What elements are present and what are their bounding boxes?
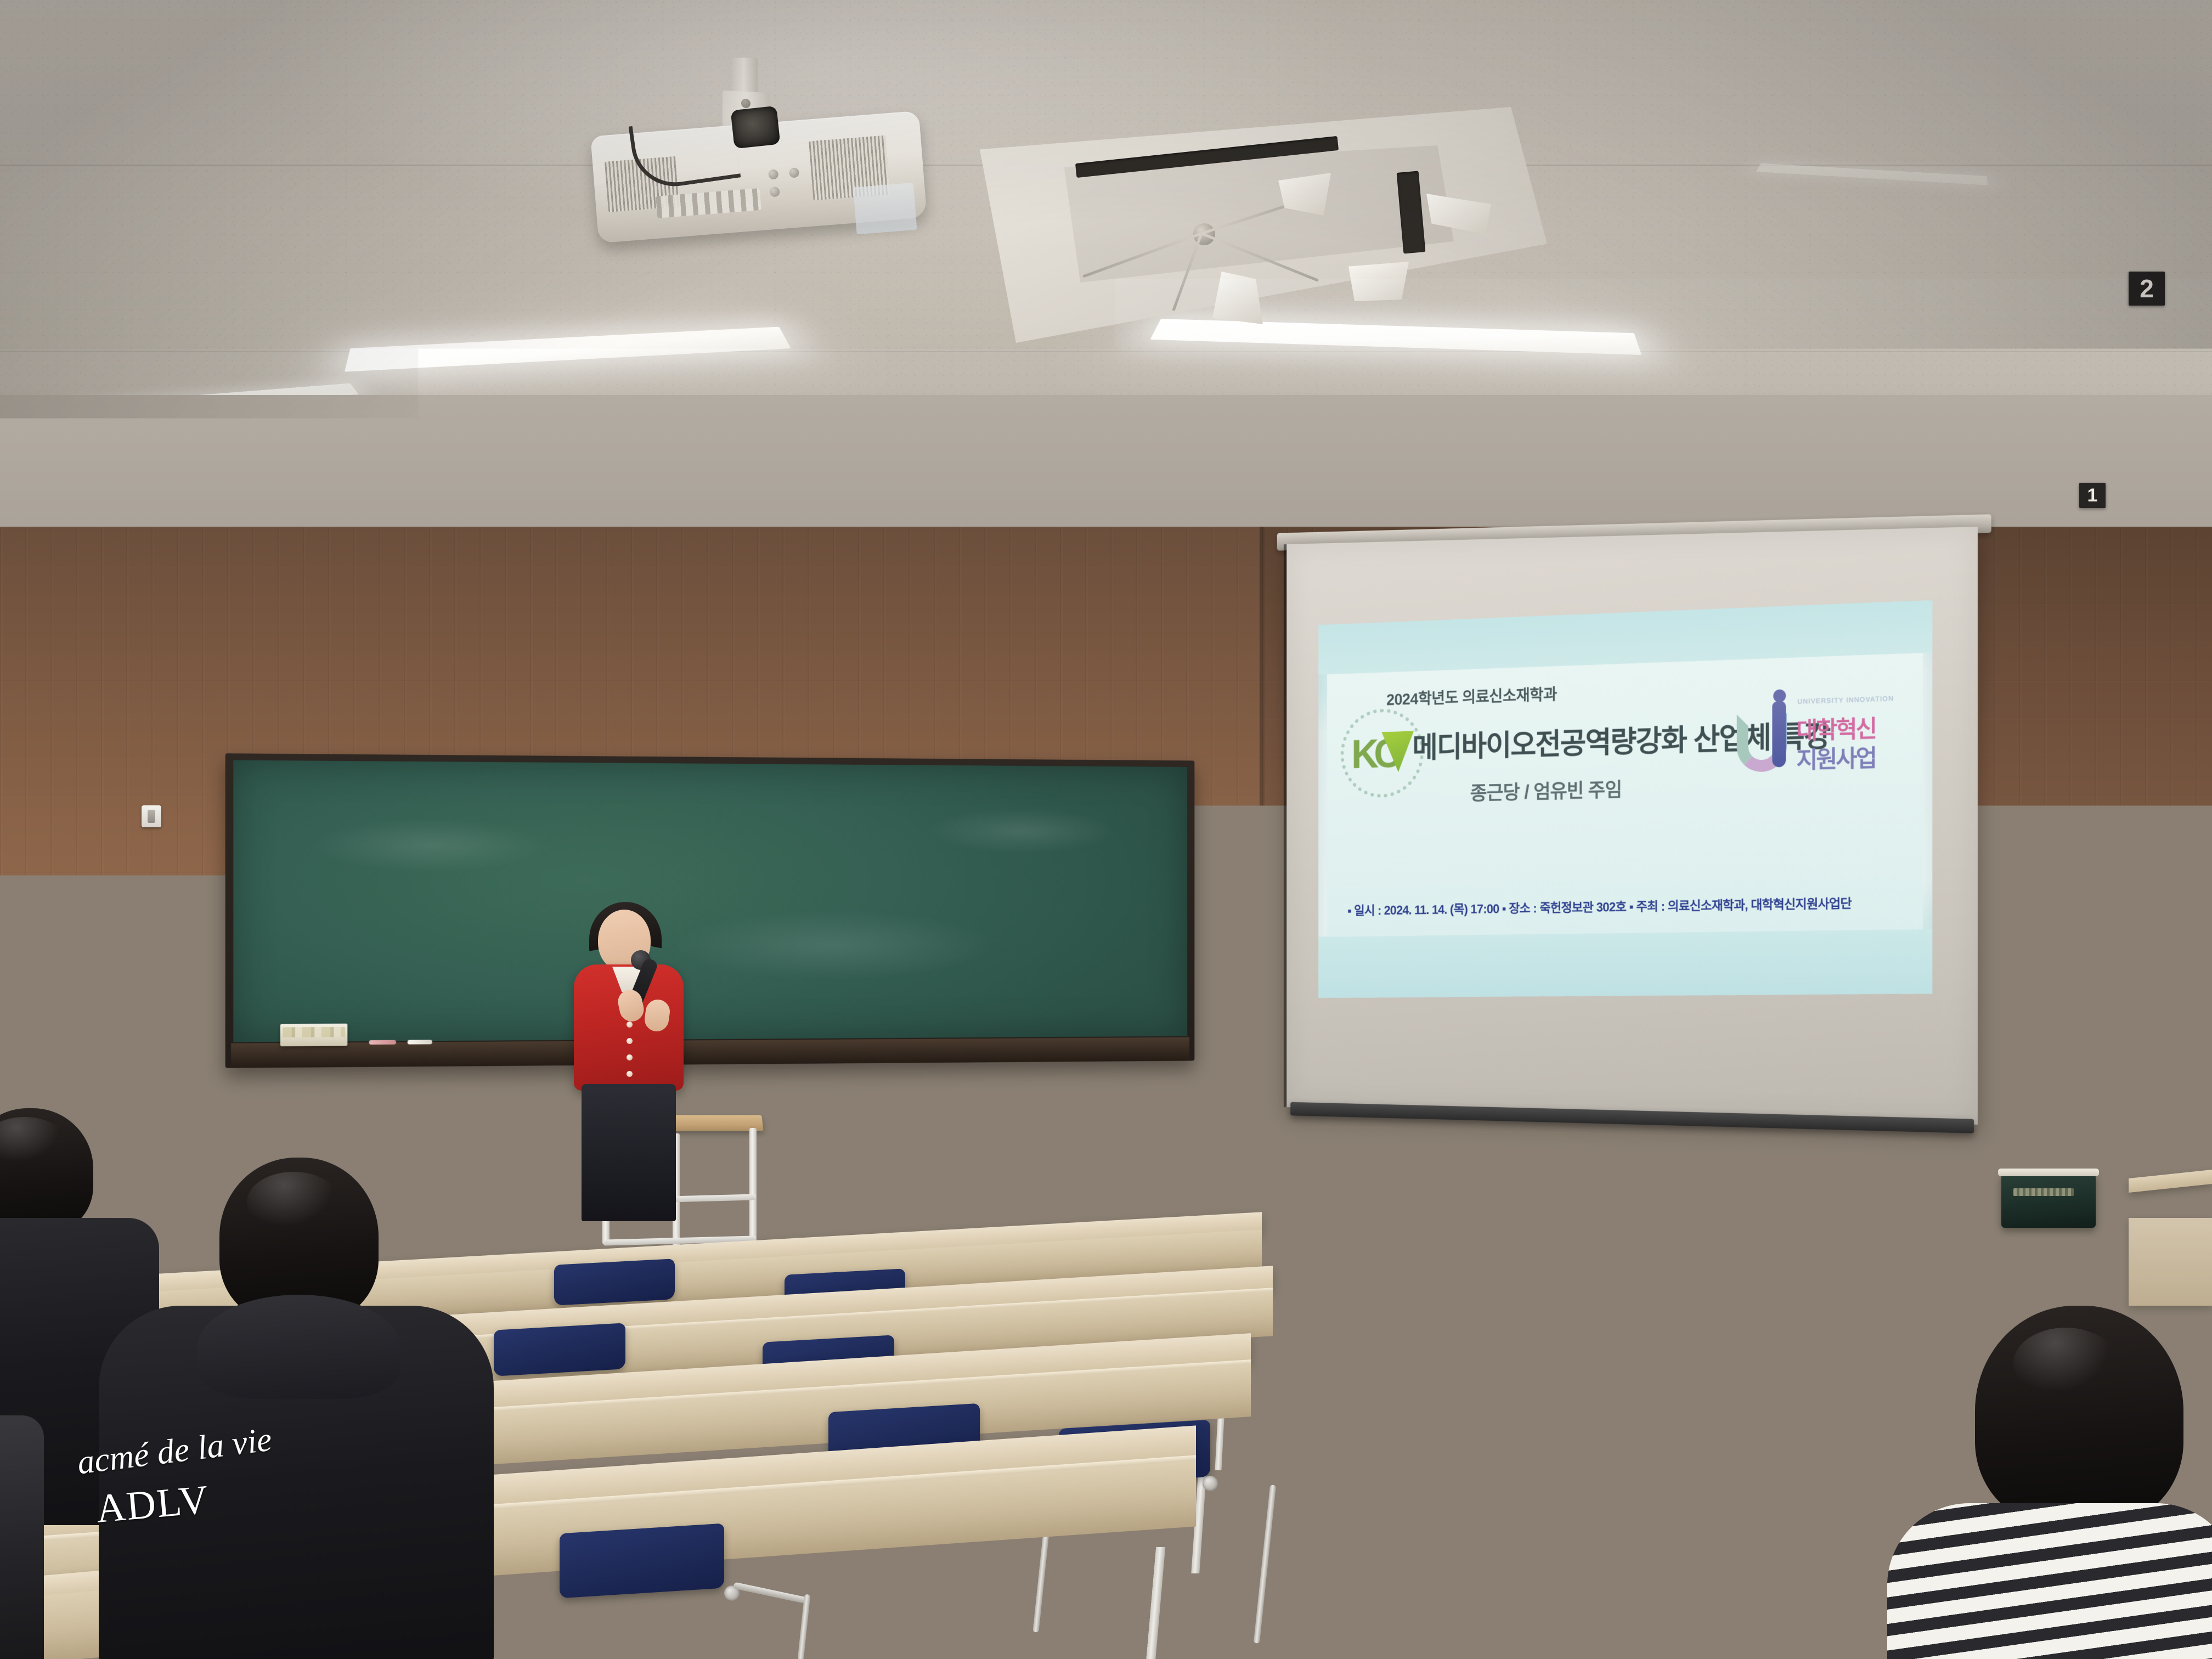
light-switch[interactable] [142,805,161,827]
projector-lens [731,106,781,149]
presenter [565,910,697,1250]
ceiling-air-conditioner [944,107,1547,343]
wall-marker-2: 2 [2129,272,2165,306]
kcy-logo: KC [1341,708,1424,799]
wall-power-socket[interactable] [1875,1290,1907,1319]
hair-highlight [2013,1328,2118,1399]
podium-leg [749,1128,757,1242]
student-lower-torso [0,1415,44,1659]
student-striped-top [1887,1503,2212,1659]
far-desk-front [2129,1218,2212,1306]
university-innovation-logo: UNIVERSITY INNOVATION 대학혁신 지원사업 [1735,687,1909,790]
chair-hinge [1203,1476,1218,1491]
cardigan-button [627,1054,633,1060]
cardigan-button [627,1038,633,1044]
audience-student-left-2: acmé de la vie ADLV [159,1158,499,1659]
diffuser-fan-blade [1348,262,1409,301]
ui-logo-i-mark [1772,701,1786,768]
ui-logo-line2: 지원사업 [1796,738,1876,775]
diffuser-fan-blade [1212,272,1263,324]
slide-speaker-line: 종근당 / 엄유빈 주임 [1470,774,1622,806]
chalkboard-surface [233,760,1187,1042]
cardigan-button [627,1071,633,1077]
cardigan-button [627,1022,633,1028]
chair-back[interactable] [560,1523,724,1599]
projector-label [853,183,917,234]
ceiling-projector [568,58,952,239]
ceiling-seam [0,351,2212,352]
hair-highlight [247,1172,340,1232]
equipment-case [2001,1174,2096,1228]
hoodie-print-line2: ADLV [94,1476,211,1533]
hair-highlight [1536,1245,1646,1328]
hoodie-hood [198,1295,400,1399]
wall-corner-divider [1260,527,1265,1306]
lecture-hall-photo: 2 1 KC 2024학년도 의료신소재학과 [0,0,2212,1659]
presenter-skirt [582,1084,676,1221]
projection-screen: KC 2024학년도 의료신소재학과 메디바이오전공역량강화 산업체 특강 종근… [1286,527,1978,1125]
cabinet-handle[interactable] [2046,1259,2051,1285]
chalk-eraser[interactable] [280,1024,347,1047]
chair-back[interactable] [554,1259,675,1306]
chalk-pink[interactable] [369,1040,396,1045]
slide-eyebrow: 2024학년도 의료신소재학과 [1386,681,1557,710]
slide-footer-details: ▪ 일시 : 2024. 11. 14. (목) 17:00 ▪ 장소 : 죽헌… [1347,893,1852,919]
ui-logo-english: UNIVERSITY INNOVATION [1797,695,1894,706]
ui-logo-dot [1773,689,1786,702]
projector-button[interactable] [768,169,778,179]
chair-back[interactable] [494,1323,625,1376]
slide-card: KC 2024학년도 의료신소재학과 메디바이오전공역량강화 산업체 특강 종근… [1327,653,1923,936]
audience-student-right-1 [1415,1223,1810,1659]
hoodie-hood [1520,1404,1695,1525]
chalkboard-smudges [233,760,1187,1042]
projector-button[interactable] [789,167,799,178]
chalk-white[interactable] [408,1040,432,1044]
projector-button[interactable] [770,187,780,197]
projected-slide: KC 2024학년도 의료신소재학과 메디바이오전공역량강화 산업체 특강 종근… [1318,600,1932,998]
chalkboard [225,753,1195,1068]
audience-student-right-2 [1909,1306,2212,1659]
slide-bottom-band [1318,929,1932,998]
wall-marker-1: 1 [2079,483,2106,508]
cabinet-handle[interactable] [2058,1259,2063,1285]
